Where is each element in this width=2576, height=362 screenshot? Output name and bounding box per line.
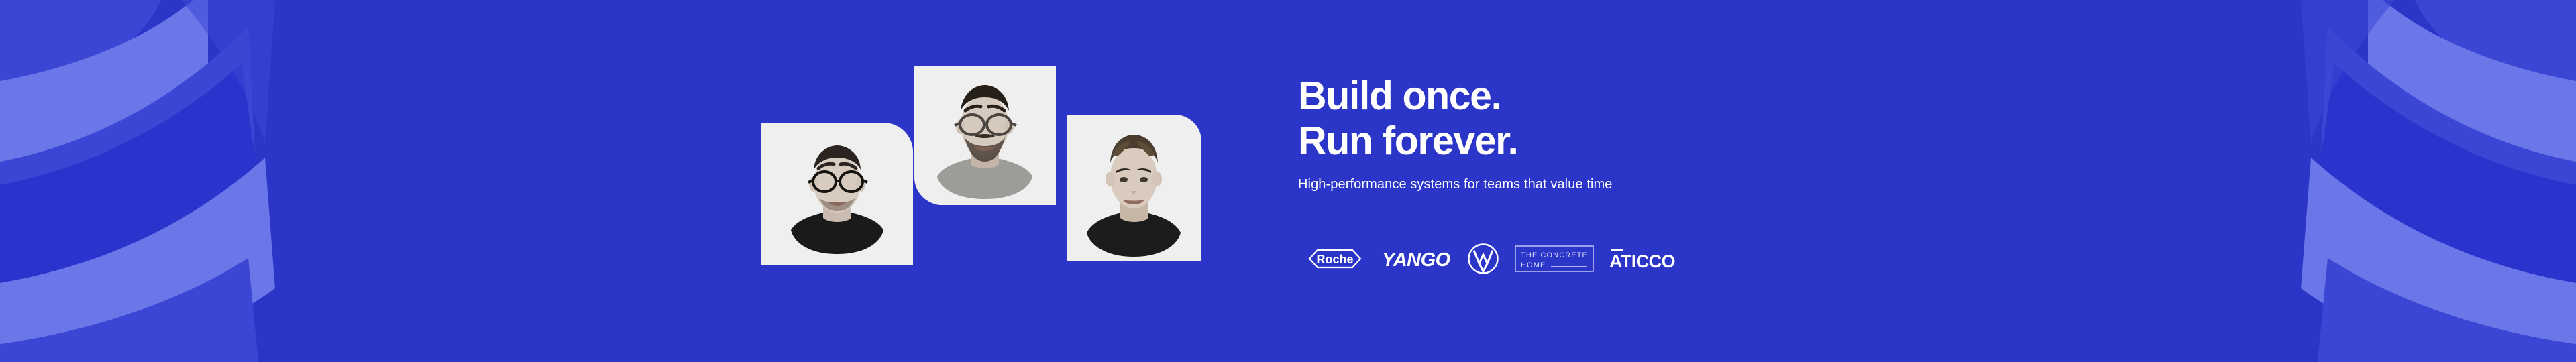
team-member-2-photo [914,66,1056,205]
wave-decoration-right [2267,0,2576,362]
svg-text:ATICCO: ATICCO [1609,251,1675,271]
svg-text:THE CONCRETE: THE CONCRETE [1521,251,1588,259]
aticco-logo: ATICCO [1609,240,1679,278]
yango-wordmark-icon: YANGO [1379,245,1452,272]
the-concrete-home-box-icon: THE CONCRETE HOME [1515,245,1594,272]
team-member-1-photo [761,123,913,265]
volkswagen-roundel-icon [1467,243,1499,275]
svg-text:YANGO: YANGO [1382,249,1451,271]
roche-logo: Roche [1298,240,1364,278]
yango-logo: YANGO [1379,240,1452,278]
hero-content: Build once. Run forever. High-performanc… [1298,74,1781,192]
wave-decoration-left [0,0,309,362]
team-photo-card-1 [761,123,913,265]
team-photo-card-2 [914,66,1056,205]
svg-text:Roche: Roche [1316,253,1353,266]
headline-line-1: Build once. [1298,74,1781,119]
team-member-3-photo [1067,115,1201,261]
wave-shapes-left [0,0,309,362]
aticco-wordmark-icon: ATICCO [1609,245,1679,272]
roche-hexagon-icon: Roche [1298,245,1364,272]
headline-line-2: Run forever. [1298,119,1781,164]
team-photo-cluster [751,54,1221,282]
hero-subtitle: High-performance systems for teams that … [1298,177,1781,192]
svg-text:HOME: HOME [1521,261,1546,269]
client-logo-row: Roche YANGO THE CONCRETE HOME [1298,240,1679,278]
wave-shapes-right [2267,0,2576,362]
team-photo-card-3 [1067,115,1201,261]
hero-banner: Build once. Run forever. High-performanc… [0,0,2576,362]
the-concrete-home-logo: THE CONCRETE HOME [1515,240,1594,278]
volkswagen-logo [1467,240,1499,278]
